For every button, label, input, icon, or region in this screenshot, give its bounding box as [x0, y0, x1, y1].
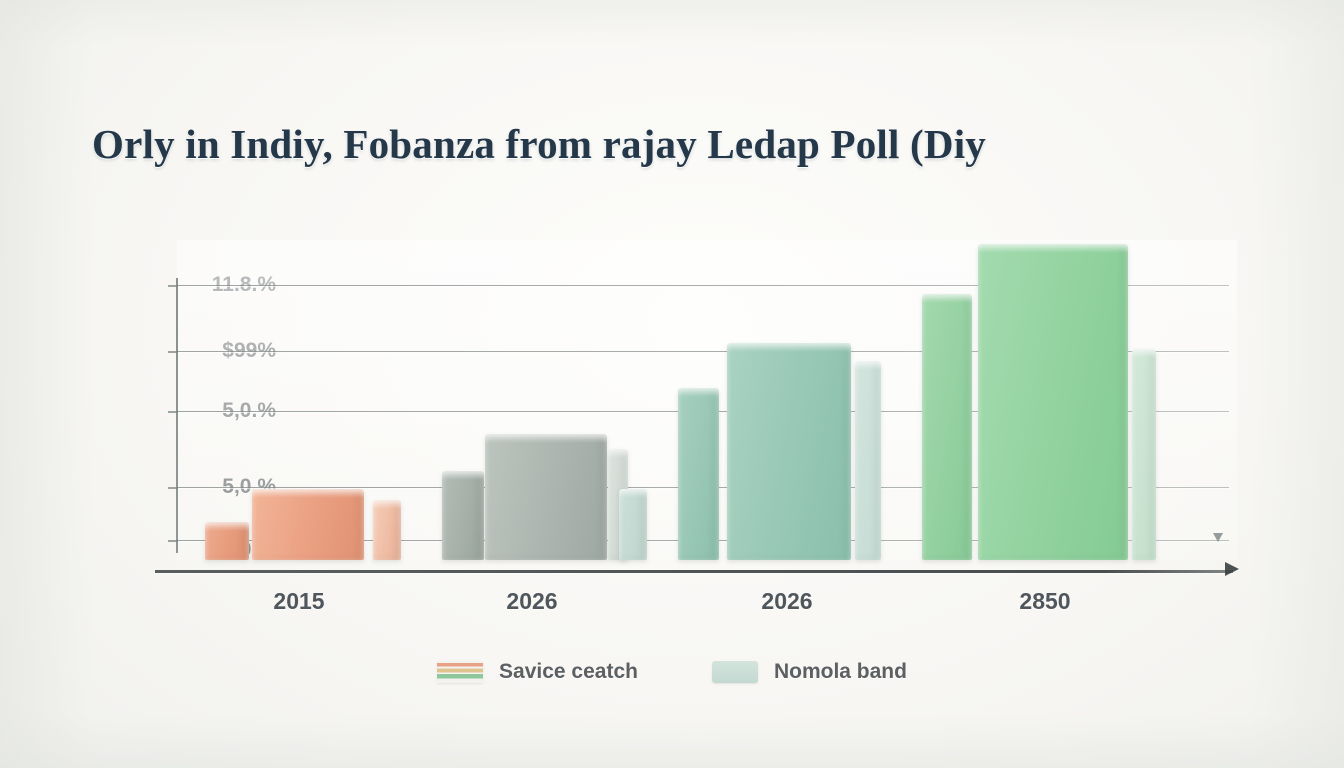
bar-g1-s3[interactable]	[373, 500, 401, 560]
legend-item-1[interactable]: Nomola band	[712, 660, 907, 684]
bar-g1-s1[interactable]	[205, 522, 249, 560]
chart-legend: Savice ceatch Nomola band	[0, 660, 1344, 684]
bar-g2-s4[interactable]	[619, 489, 647, 560]
solid-swatch-icon	[712, 661, 758, 683]
y-tick-mark-1	[168, 351, 178, 353]
bar-g3-s2[interactable]	[727, 343, 851, 560]
gridline-arrow-icon	[1213, 533, 1223, 542]
x-axis-line	[155, 570, 1233, 573]
striped-swatch-icon	[437, 661, 483, 683]
legend-item-0[interactable]: Savice ceatch	[437, 660, 638, 684]
legend-label-1: Nomola band	[774, 660, 907, 684]
legend-label-0: Savice ceatch	[499, 660, 638, 684]
y-axis-line	[176, 278, 178, 553]
bar-g2-s2[interactable]	[485, 434, 607, 560]
bar-g1-s2[interactable]	[252, 489, 364, 560]
y-tick-mark-2	[168, 411, 178, 413]
y-tick-mark-4	[168, 540, 178, 542]
x-tick-label-1: 2026	[442, 588, 622, 615]
bar-g2-s1[interactable]	[442, 471, 484, 560]
bar-g4-s2[interactable]	[978, 244, 1128, 560]
bar-g4-s3[interactable]	[1132, 349, 1156, 560]
x-tick-label-0: 2015	[209, 588, 389, 615]
plot-area: 2015 2026 2026 2850	[177, 240, 1237, 560]
y-tick-mark-3	[168, 487, 178, 489]
x-axis-arrow-icon	[1225, 562, 1239, 576]
bar-g4-s1[interactable]	[922, 294, 972, 560]
x-tick-label-2: 2026	[697, 588, 877, 615]
bar-g3-s1[interactable]	[678, 388, 719, 560]
bar-g3-s3[interactable]	[855, 361, 881, 560]
x-tick-label-3: 2850	[955, 588, 1135, 615]
y-tick-mark-0	[168, 285, 178, 287]
chart-title: Orly in Indiy, Fobanza from rajay Ledap …	[92, 120, 1272, 168]
chart-page: Orly in Indiy, Fobanza from rajay Ledap …	[0, 0, 1344, 768]
